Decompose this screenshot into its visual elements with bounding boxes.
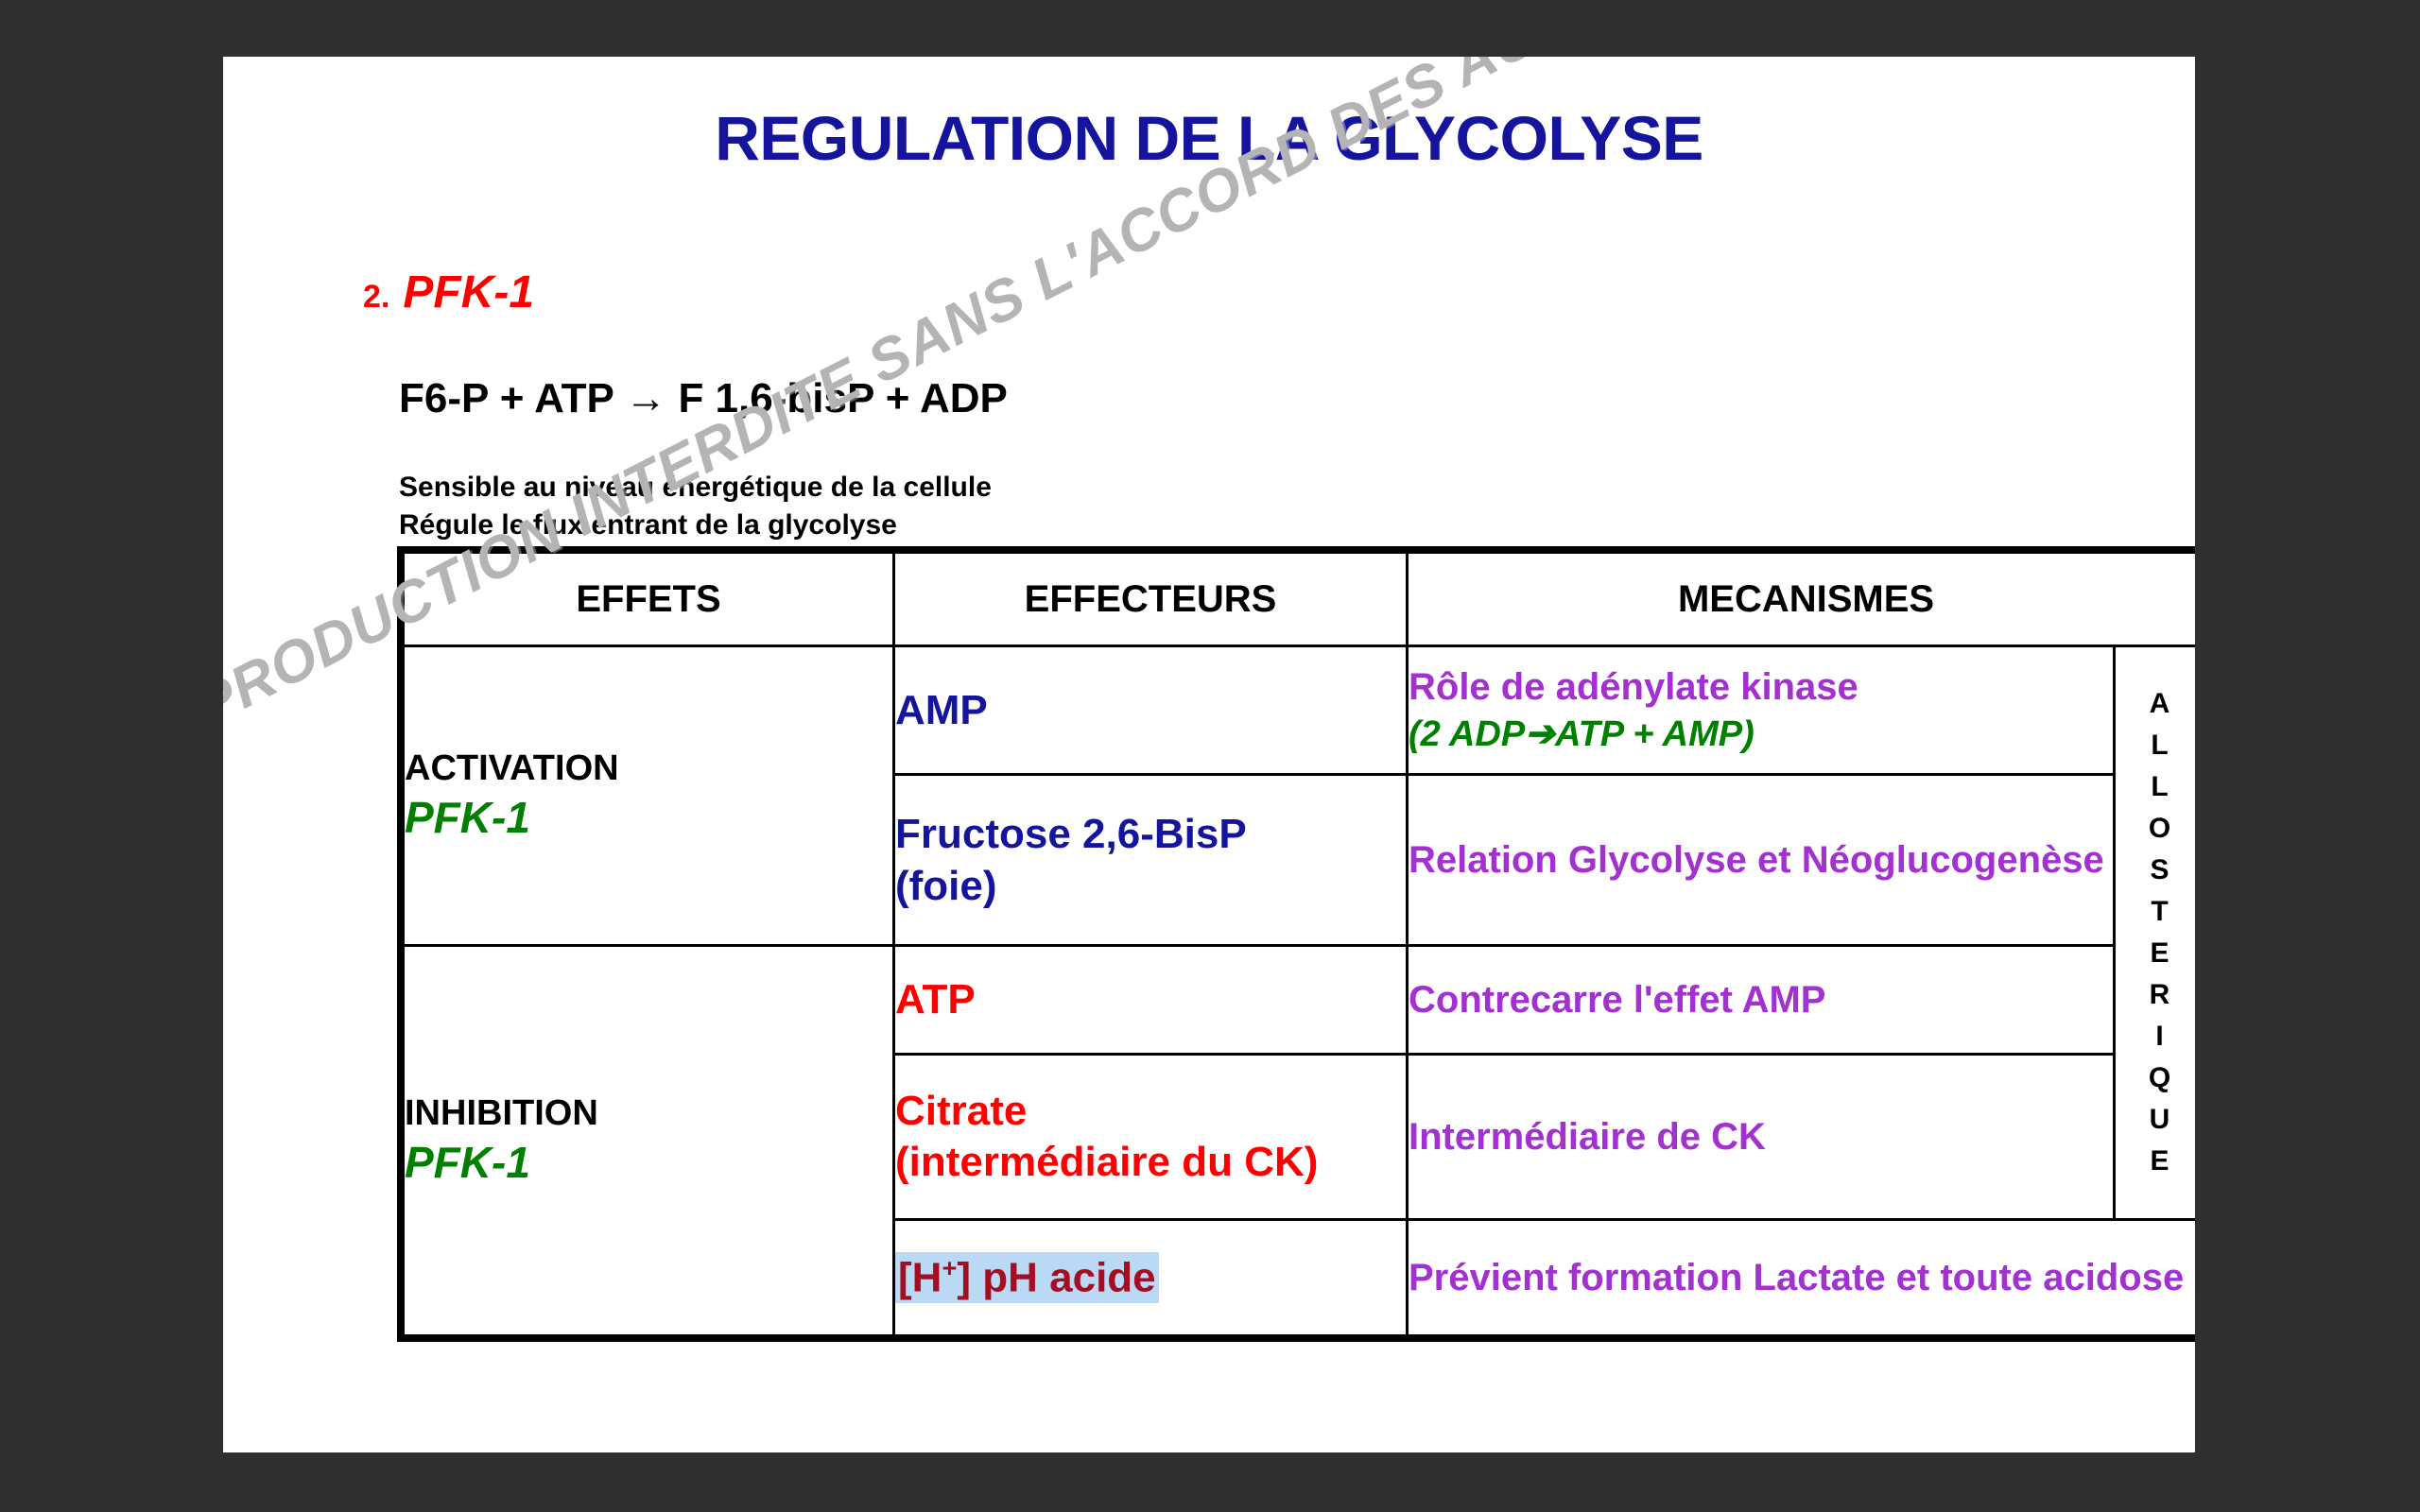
allosteric-letter: U	[2150, 1106, 2170, 1134]
effector-superscript: +	[942, 1253, 957, 1282]
mechanism-main: Contrecarre l'effet AMP	[1409, 975, 2113, 1024]
allosteric-letter: S	[2151, 856, 2169, 885]
mechanism-cell-citrate: Intermédiaire de CK	[1408, 1055, 2115, 1220]
effector-cell-ph: [H+] pH acide	[894, 1220, 1408, 1336]
mechanism-cell-ph: Prévient formation Lactate et toute acid…	[1408, 1220, 2196, 1336]
effector-note: (foie)	[895, 860, 1406, 912]
allosteric-letter: O	[2149, 815, 2170, 843]
reaction-equation: F6-P + ATP → F 1,6-bisP + ADP	[399, 375, 1008, 422]
allosteric-letter: Q	[2149, 1064, 2170, 1092]
mechanism-main: Prévient formation Lactate et toute acid…	[1409, 1253, 2195, 1302]
notes-block: Sensible au niveau énergétique de la cel…	[399, 469, 992, 543]
mechanism-cell-atp: Contrecarre l'effet AMP	[1408, 946, 2115, 1055]
allosteric-letter: I	[2155, 1022, 2163, 1051]
effect-group-inhibition: INHIBITION PFK-1	[404, 946, 894, 1336]
effector-cell-atp: ATP	[894, 946, 1408, 1055]
regulation-table: EFFETS EFFECTEURS MECANISMES ACTIVATION …	[397, 546, 2195, 1342]
allosteric-letter: E	[2151, 939, 2169, 968]
note-line-2: Régule le flux entrant de la glycolyse	[399, 507, 992, 544]
allosteric-letter: T	[2151, 898, 2168, 926]
column-header-mecanismes: MECANISMES	[1408, 553, 2196, 646]
effector-cell-fructose: Fructose 2,6-BisP (foie)	[894, 775, 1408, 946]
effector-name: Citrate	[895, 1086, 1406, 1137]
mechanism-sub: (2 ADP➔ATP + AMP)	[1409, 712, 2113, 758]
mechanism-main: Relation Glycolyse et Néoglucogenèse	[1409, 835, 2113, 885]
effect-kind-label: ACTIVATION	[405, 747, 892, 792]
allosteric-band: A L L O S T E R I Q U E	[2115, 646, 2196, 1220]
slide-canvas: REPRODUCTION INTERDITE SANS L'ACCORD DES…	[223, 57, 2195, 1452]
effect-enzyme-label: PFK-1	[405, 791, 892, 846]
allosteric-letter: L	[2151, 773, 2168, 801]
table-row: INHIBITION PFK-1 ATP Contrecarre l'effet…	[404, 946, 2196, 1055]
effector-name: ATP	[895, 974, 1406, 1025]
mechanism-main: Rôle de adénylate kinase	[1409, 662, 2113, 712]
allosteric-letter: R	[2150, 981, 2170, 1009]
effector-cell-amp: AMP	[894, 646, 1408, 775]
column-header-effets: EFFETS	[404, 553, 894, 646]
allosteric-letter-stack: A L L O S T E R I Q U E	[2116, 690, 2195, 1176]
effect-kind-label: INHIBITION	[405, 1091, 892, 1137]
allosteric-letter: A	[2150, 690, 2170, 718]
effect-group-activation: ACTIVATION PFK-1	[404, 646, 894, 946]
section-heading: 2.PFK-1	[363, 266, 534, 318]
effector-cell-citrate: Citrate (intermédiaire du CK)	[894, 1055, 1408, 1220]
page-title: REGULATION DE LA GLYCOLYSE	[223, 102, 2195, 174]
effect-enzyme-label: PFK-1	[405, 1136, 892, 1191]
table-row: ACTIVATION PFK-1 AMP Rôle de adénylate k…	[404, 646, 2196, 775]
allosteric-letter: L	[2151, 731, 2168, 760]
effector-suffix: ] pH acide	[957, 1254, 1155, 1300]
table-header-row: EFFETS EFFECTEURS MECANISMES	[404, 553, 2196, 646]
column-header-effecteurs: EFFECTEURS	[894, 553, 1408, 646]
section-label: PFK-1	[403, 267, 534, 318]
effector-name-highlighted: [H+] pH acide	[895, 1252, 1159, 1303]
mechanism-cell-fructose: Relation Glycolyse et Néoglucogenèse	[1408, 775, 2115, 946]
effector-prefix: [H	[898, 1254, 942, 1300]
mechanism-main: Intermédiaire de CK	[1409, 1112, 2113, 1161]
mechanism-cell-amp: Rôle de adénylate kinase (2 ADP➔ATP + AM…	[1408, 646, 2115, 775]
allosteric-letter: E	[2151, 1147, 2169, 1176]
note-line-1: Sensible au niveau énergétique de la cel…	[399, 469, 992, 507]
effector-name: AMP	[895, 684, 1406, 736]
effector-name: Fructose 2,6-BisP	[895, 808, 1406, 860]
effector-note: (intermédiaire du CK)	[895, 1137, 1406, 1188]
section-number: 2.	[363, 279, 389, 315]
